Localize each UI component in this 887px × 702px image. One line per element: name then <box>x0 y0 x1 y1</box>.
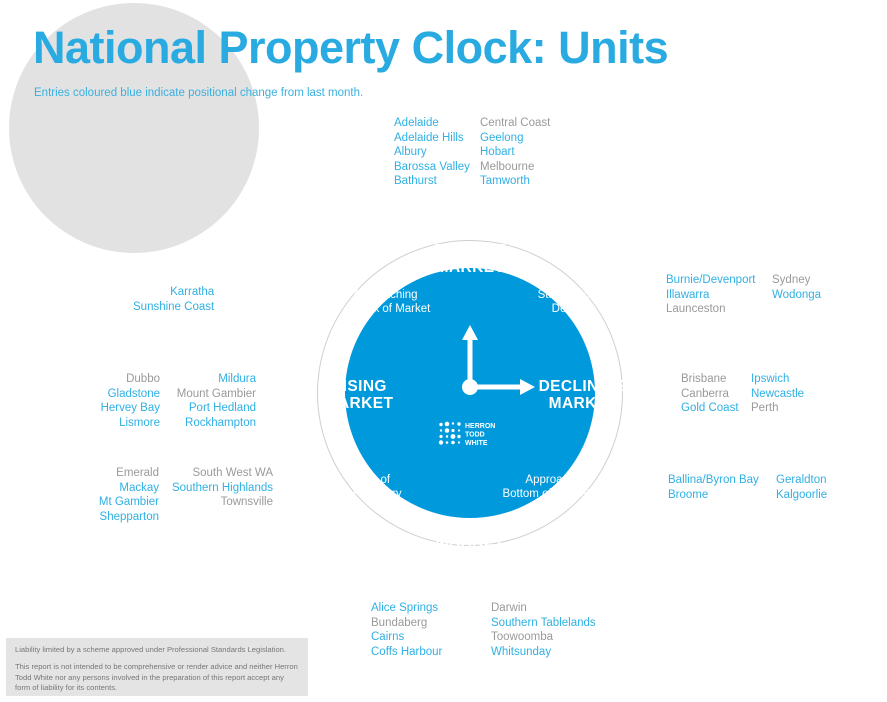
label-starting-to-decline-line2: Decline <box>456 302 590 316</box>
city-label: Ipswich <box>751 372 804 387</box>
city-group-approaching-peak-of-market: KarrathaSunshine Coast <box>133 285 214 314</box>
city-group-starting-to-decline: Burnie/DevenportIllawarraLauncestonSydne… <box>666 273 821 317</box>
city-label: Mount Gambier <box>168 387 256 402</box>
clock-dot-approaching-bottom <box>597 484 608 495</box>
clock-dot-peak <box>465 221 476 232</box>
city-group-approaching-bottom-of-market: Ballina/Byron BayBroomeGeraldtonKalgoorl… <box>668 473 827 502</box>
city-column: MilduraMount GambierPort HedlandRockhamp… <box>168 372 256 430</box>
city-label: Dubbo <box>88 372 160 387</box>
city-label: Burnie/Devenport <box>666 273 764 288</box>
label-approaching-peak-of-market: Approaching Peak of Market <box>353 288 430 316</box>
city-label: Alice Springs <box>371 601 483 616</box>
label-declining-market: DECLINING MARKET <box>528 378 638 413</box>
city-column: DubboGladstoneHervey BayLismore <box>88 372 160 430</box>
city-label: Mt Gambier <box>85 495 159 510</box>
label-peak-line1: PEAK OF <box>400 242 540 259</box>
city-group-rising-market: DubboGladstoneHervey BayLismoreMilduraMo… <box>88 372 256 430</box>
city-column: Ballina/Byron BayBroome <box>668 473 768 502</box>
city-label: Southern Highlands <box>167 481 273 496</box>
city-label: Southern Tablelands <box>491 616 596 631</box>
city-label: Melbourne <box>480 160 550 175</box>
city-label: Kalgoorlie <box>776 488 827 503</box>
city-label: Barossa Valley <box>394 160 472 175</box>
city-group-start-of-recovery: EmeraldMackayMt GambierSheppartonSouth W… <box>85 466 273 524</box>
label-rising-line2: MARKET <box>312 395 406 412</box>
city-label: Illawarra <box>666 288 764 303</box>
city-column: South West WASouthern HighlandsTownsvill… <box>167 466 273 524</box>
label-starting-to-decline-line1: Starting to <box>456 288 590 302</box>
city-column: EmeraldMackayMt GambierShepparton <box>85 466 159 524</box>
city-label: Rockhampton <box>168 416 256 431</box>
label-bottom-of-market: BOTTOM OF MARKET <box>400 516 540 551</box>
city-label: Hervey Bay <box>88 401 160 416</box>
property-clock-page: National Property Clock: Units Entries c… <box>0 0 887 702</box>
label-start-of-recovery-line2: Recovery <box>353 487 402 501</box>
city-label: Karratha <box>133 285 214 300</box>
city-label: Whitsunday <box>491 645 596 660</box>
label-peak-of-market: PEAK OF MARKET <box>400 242 540 277</box>
city-label: Gold Coast <box>681 401 743 416</box>
city-column: Alice SpringsBundabergCairnsCoffs Harbou… <box>371 601 483 659</box>
clock-dot-bottom <box>465 554 476 565</box>
city-label: Broome <box>668 488 768 503</box>
city-label: Newcastle <box>751 387 804 402</box>
city-label: Port Hedland <box>168 401 256 416</box>
city-label: Shepparton <box>85 510 159 525</box>
city-label: Perth <box>751 401 804 416</box>
city-label: Mildura <box>168 372 256 387</box>
city-label: Wodonga <box>772 288 821 303</box>
label-peak-line2: MARKET <box>400 259 540 276</box>
city-column: Central CoastGeelongHobartMelbourneTamwo… <box>480 116 550 189</box>
city-label: Adelaide <box>394 116 472 131</box>
label-bottom-line2: MARKET <box>400 533 540 550</box>
city-label: Sydney <box>772 273 821 288</box>
city-label: Townsville <box>167 495 273 510</box>
page-subtitle: Entries coloured blue indicate positiona… <box>34 87 363 99</box>
clock-dot-starting-to-decline <box>597 288 608 299</box>
label-approaching-bottom-of-market: Approaching Bottom of Market <box>440 473 590 501</box>
label-approaching-peak-line2: Peak of Market <box>353 302 430 316</box>
city-group-bottom-of-market: Alice SpringsBundabergCairnsCoffs Harbou… <box>371 601 596 659</box>
label-start-of-recovery: Start of Recovery <box>353 473 402 501</box>
city-label: Geelong <box>480 131 550 146</box>
city-column: DarwinSouthern TablelandsToowoombaWhitsu… <box>491 601 596 659</box>
city-label: Lismore <box>88 416 160 431</box>
city-label: Darwin <box>491 601 596 616</box>
label-start-of-recovery-line1: Start of <box>353 473 402 487</box>
city-label: Gladstone <box>88 387 160 402</box>
city-label: Launceston <box>666 302 764 317</box>
city-label: Emerald <box>85 466 159 481</box>
city-label: Sunshine Coast <box>133 300 214 315</box>
disclaimer-line-1: Liability limited by a scheme approved u… <box>15 645 299 656</box>
city-group-peak-of-market: AdelaideAdelaide HillsAlburyBarossa Vall… <box>394 116 550 189</box>
logo-line-2: TODD <box>465 432 485 439</box>
clock-dot-approaching-peak <box>333 288 344 299</box>
label-rising-market: RISING MARKET <box>312 378 406 413</box>
city-label: Albury <box>394 145 472 160</box>
label-approaching-peak-line1: Approaching <box>353 288 430 302</box>
city-column: AdelaideAdelaide HillsAlburyBarossa Vall… <box>394 116 472 189</box>
city-label: Tamworth <box>480 174 550 189</box>
city-label: Cairns <box>371 630 483 645</box>
city-column: IpswichNewcastlePerth <box>751 372 804 416</box>
city-column: BrisbaneCanberraGold Coast <box>681 372 743 416</box>
city-label: Central Coast <box>480 116 550 131</box>
city-label: Adelaide Hills <box>394 131 472 146</box>
label-bottom-line1: BOTTOM OF <box>400 516 540 533</box>
city-column: GeraldtonKalgoorlie <box>776 473 827 502</box>
herron-todd-white-logo: HERRON TODD WHITE <box>437 420 503 450</box>
logo-line-1: HERRON <box>465 423 495 430</box>
label-rising-line1: RISING <box>312 378 406 395</box>
city-label: Toowoomba <box>491 630 596 645</box>
disclaimer-line-2: This report is not intended to be compre… <box>15 662 299 694</box>
city-label: Hobart <box>480 145 550 160</box>
city-column: KarrathaSunshine Coast <box>133 285 214 314</box>
city-label: Brisbane <box>681 372 743 387</box>
label-approaching-bottom-line2: Bottom of Market <box>440 487 590 501</box>
city-label: Bathurst <box>394 174 472 189</box>
label-approaching-bottom-line1: Approaching <box>440 473 590 487</box>
city-label: Geraldton <box>776 473 827 488</box>
disclaimer-box: Liability limited by a scheme approved u… <box>6 638 308 696</box>
city-group-declining-market: BrisbaneCanberraGold CoastIpswichNewcast… <box>681 372 804 416</box>
city-label: Ballina/Byron Bay <box>668 473 768 488</box>
logo-line-3: WHITE <box>465 440 488 447</box>
label-starting-to-decline: Starting to Decline <box>456 288 590 316</box>
city-label: Coffs Harbour <box>371 645 483 660</box>
city-column: SydneyWodonga <box>772 273 821 317</box>
page-title: National Property Clock: Units <box>33 22 668 74</box>
clock-dot-start-of-recovery <box>333 484 344 495</box>
label-declining-line1: DECLINING <box>528 378 638 395</box>
city-label: Bundaberg <box>371 616 483 631</box>
city-label: South West WA <box>167 466 273 481</box>
city-label: Mackay <box>85 481 159 496</box>
city-column: Burnie/DevenportIllawarraLaunceston <box>666 273 764 317</box>
label-declining-line2: MARKET <box>528 395 638 412</box>
city-label: Canberra <box>681 387 743 402</box>
